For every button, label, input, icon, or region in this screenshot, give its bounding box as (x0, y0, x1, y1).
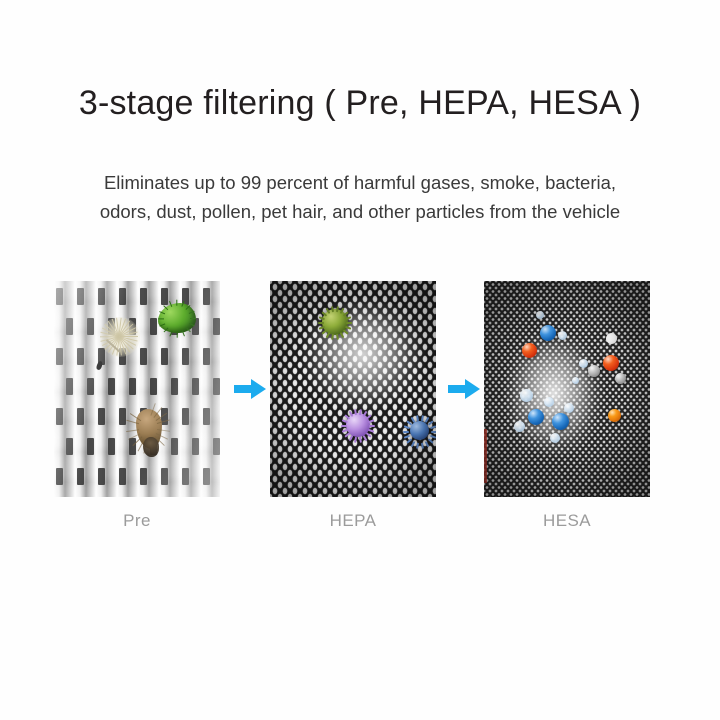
hepa-filter-perforated-mesh-photo (270, 281, 436, 497)
gas-molecule (544, 397, 554, 407)
gas-molecule (588, 365, 600, 377)
blue-pollen-spikes (405, 416, 434, 445)
brown-fiber-dark-tail (143, 437, 159, 457)
gas-molecule (603, 355, 619, 371)
gas-molecule (608, 409, 621, 422)
gas-molecule (528, 409, 544, 425)
hepa-mesh-texture (270, 281, 436, 497)
flow-arrow-hepa-to-hesa-icon (448, 378, 480, 400)
purple-virus-particle (346, 413, 370, 437)
filter-stage-hepa: HEPA (270, 281, 436, 497)
flow-arrow-pre-to-hepa-icon (234, 378, 266, 400)
page-subtitle: Eliminates up to 99 percent of harmful g… (60, 168, 660, 226)
purple-virus-spikes (341, 408, 375, 442)
gas-molecule (522, 343, 537, 358)
gas-molecule (552, 413, 569, 430)
gas-molecule (615, 373, 626, 384)
green-bacteria-particle (322, 309, 348, 335)
gas-molecule (536, 311, 544, 319)
filter-stage-pre: Pre (54, 281, 220, 497)
gas-molecule (540, 325, 556, 341)
gas-molecule (579, 359, 588, 368)
hesa-red-edge-stripe (484, 429, 487, 483)
hesa-filter-fine-mesh-photo (484, 281, 650, 497)
pre-filter-woven-mesh-photo (54, 281, 220, 497)
caption-hepa: HEPA (270, 511, 436, 531)
green-plant-debris-particle (158, 303, 196, 333)
green-bacteria-spikes (317, 304, 353, 340)
gas-molecule (564, 403, 574, 413)
gas-molecule (514, 421, 525, 432)
page-title: 3-stage filtering ( Pre, HEPA, HESA ) (0, 82, 720, 124)
gas-molecule (606, 333, 617, 344)
hesa-mesh-texture (484, 281, 650, 497)
gas-molecule (550, 433, 560, 443)
caption-pre: Pre (54, 511, 220, 531)
filter-infographic-page: 3-stage filtering ( Pre, HEPA, HESA ) El… (0, 0, 720, 720)
caption-hesa: HESA (484, 511, 650, 531)
blue-pollen-particle (410, 421, 429, 440)
subtitle-line-1: Eliminates up to 99 percent of harmful g… (60, 168, 660, 197)
subtitle-line-2: odors, dust, pollen, pet hair, and other… (60, 197, 660, 226)
filter-stage-hesa: HESA (484, 281, 650, 497)
gas-molecule (558, 331, 567, 340)
brown-fiber-clump-particle (132, 403, 166, 459)
gas-molecule (572, 377, 579, 384)
dandelion-seed-particle (92, 317, 144, 369)
gas-molecule (520, 389, 533, 402)
filter-stage-row: Pre HEPA (0, 281, 720, 541)
